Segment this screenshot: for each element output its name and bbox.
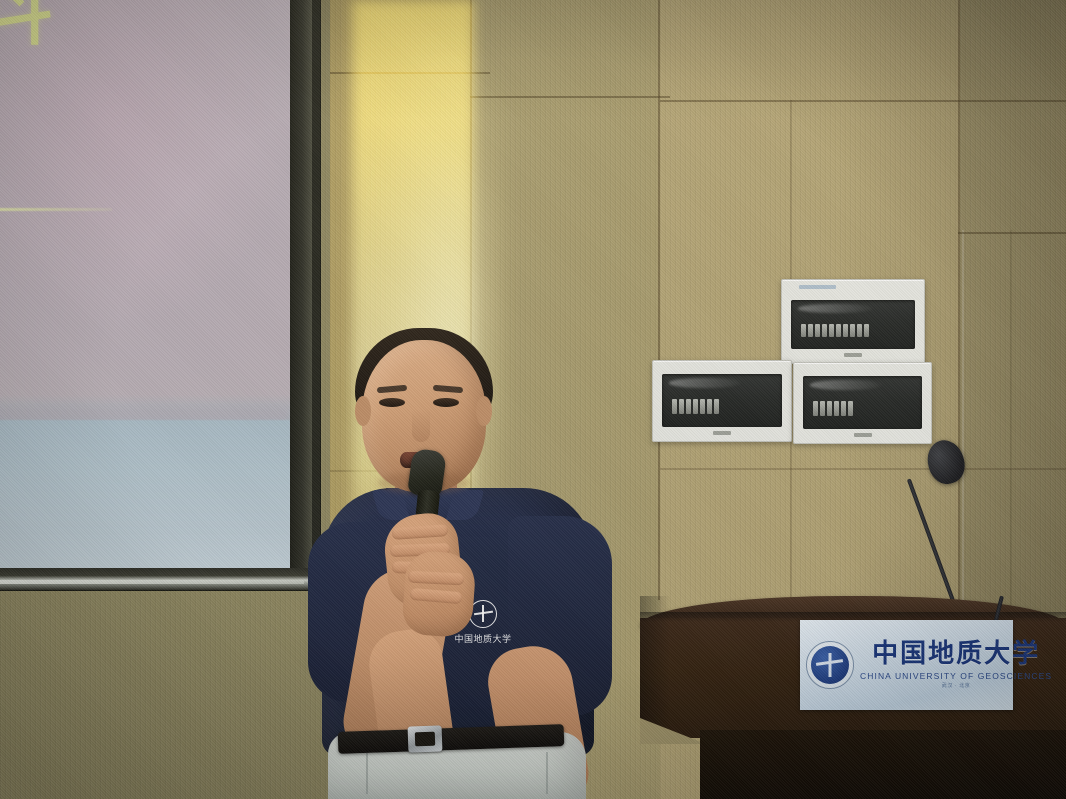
trouser-pocket-seam xyxy=(546,752,548,794)
circuit-breakers xyxy=(801,324,869,338)
university-placard: 中国地质大学 CHINA UNIVERSITY OF GEOSCIENCES 武… xyxy=(800,620,1013,710)
electrical-panel-lower-left[interactable] xyxy=(652,360,792,442)
nose xyxy=(412,410,430,442)
lectern-left-bevel xyxy=(640,596,670,736)
panel-window xyxy=(803,376,922,429)
projection-screen-surface: 科 xyxy=(0,0,290,568)
panel-latch[interactable] xyxy=(713,431,731,435)
circuit-breakers xyxy=(813,401,853,416)
circuit-breakers xyxy=(672,399,719,414)
panel-glass-sheen xyxy=(669,378,741,388)
shirt-logo-text: 中国地质大学 xyxy=(455,632,512,645)
lectern-lower-skirt xyxy=(700,730,1066,799)
placard-text-block: 中国地质大学 CHINA UNIVERSITY OF GEOSCIENCES 武… xyxy=(860,641,1052,689)
panel-glass-sheen xyxy=(810,380,881,390)
electrical-panel-lower-right[interactable] xyxy=(793,362,932,444)
projection-screen-weight-bar xyxy=(0,568,310,590)
panel-window xyxy=(791,300,915,349)
panel-latch[interactable] xyxy=(854,433,872,437)
belt-buckle xyxy=(408,725,443,752)
panel-label-sticker xyxy=(799,285,836,289)
projection-screen-bar-highlight xyxy=(0,580,304,584)
electrical-panel-upper-right[interactable] xyxy=(781,279,925,364)
presenter: 中国地质大学 xyxy=(300,300,630,799)
ear-left xyxy=(355,396,371,426)
panel-glass-sheen xyxy=(798,304,872,313)
panel-window xyxy=(662,374,782,427)
slide-underline-rule xyxy=(0,208,112,211)
eye-right xyxy=(433,398,459,407)
panel-latch[interactable] xyxy=(844,353,862,357)
projection-screen: 科 xyxy=(0,0,320,590)
ear-right xyxy=(476,396,492,426)
eye-left xyxy=(379,398,405,407)
placard-english-name: CHINA UNIVERSITY OF GEOSCIENCES xyxy=(860,672,1052,681)
placard-subtitle: 武汉 · 北京 xyxy=(942,684,971,689)
slide-lower-photo xyxy=(0,420,290,568)
slide-headline-text: 科 xyxy=(0,0,58,52)
trouser-pocket-seam xyxy=(366,752,368,794)
lecture-hall-photo: 科 xyxy=(0,0,1066,799)
university-emblem-icon xyxy=(806,641,854,689)
placard-chinese-name: 中国地质大学 xyxy=(872,641,1040,667)
